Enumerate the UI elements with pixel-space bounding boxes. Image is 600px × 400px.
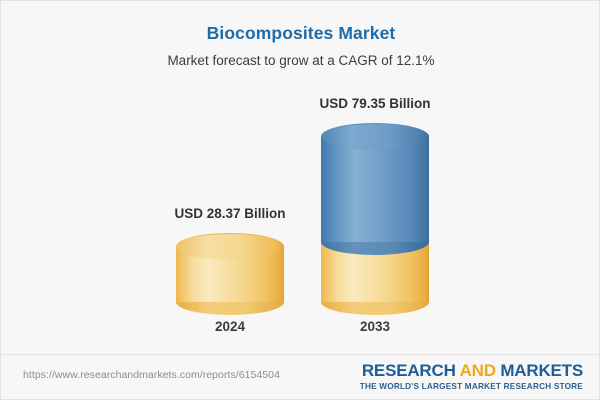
category-label-2033: 2033: [275, 319, 475, 334]
logo-word-research: RESEARCH: [362, 361, 456, 380]
research-and-markets-logo[interactable]: RESEARCH AND MARKETS THE WORLD'S LARGEST…: [360, 361, 583, 392]
footer: https://www.researchandmarkets.com/repor…: [1, 354, 600, 400]
logo-word-and: AND: [460, 361, 496, 380]
cylinder-top-cap-2033: [321, 123, 429, 150]
logo-tagline: THE WORLD'S LARGEST MARKET RESEARCH STOR…: [360, 381, 583, 392]
logo-wordmark: RESEARCH AND MARKETS: [360, 361, 583, 380]
bar-value-label-2024: USD 28.37 Billion: [130, 206, 330, 221]
bar-value-label-2033: USD 79.35 Billion: [275, 96, 475, 111]
cylinder-top-cap-2024: [176, 233, 284, 260]
chart-card: Biocomposites Market Market forecast to …: [0, 0, 600, 400]
logo-word-markets: MARKETS: [500, 361, 583, 380]
cylinder-growth-body-2033: [321, 136, 429, 242]
plot-area: USD 28.37 Billion 2024 USD 79.35 Billion: [1, 1, 600, 351]
report-url[interactable]: https://www.researchandmarkets.com/repor…: [23, 369, 280, 381]
